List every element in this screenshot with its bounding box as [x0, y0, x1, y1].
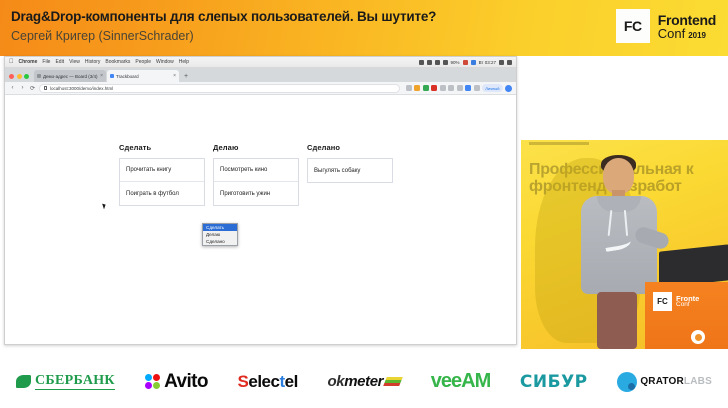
- kanban-card[interactable]: Приготовить ужин: [214, 182, 298, 205]
- extension-icon[interactable]: [474, 85, 480, 91]
- extension-icon[interactable]: [440, 85, 446, 91]
- kanban-card[interactable]: Поиграть в футбол: [120, 182, 204, 205]
- apple-icon[interactable]: : [9, 59, 14, 65]
- dropbox-icon[interactable]: [419, 60, 424, 65]
- column-title: Сделано: [307, 143, 393, 152]
- page-content: Сделать Прочитать книгу Поиграть в футбо…: [5, 95, 516, 344]
- kanban-column-todo: Сделать Прочитать книгу Поиграть в футбо…: [119, 143, 205, 206]
- sponsor-bar: СБЕРБАНК Avito Selectel okmeter veeAM СИ…: [0, 355, 728, 408]
- close-window-button[interactable]: [9, 74, 14, 79]
- tab-strip: Демо-адрес — Board (3/4) × Trackboard × …: [5, 68, 516, 82]
- mouse-cursor-icon: [102, 203, 107, 210]
- extension-icon[interactable]: [406, 85, 412, 91]
- input-source-icon[interactable]: [471, 60, 476, 65]
- kanban-board: Сделать Прочитать книгу Поиграть в футбо…: [119, 143, 393, 206]
- user-icon[interactable]: [507, 60, 512, 65]
- dropdown-option-todo[interactable]: Сделать: [203, 224, 237, 231]
- sponsor-name-suffix: LABS: [684, 376, 712, 387]
- menu-item-view[interactable]: View: [69, 59, 80, 65]
- podium-line-2: Conf: [676, 302, 699, 309]
- tab-close-icon[interactable]: ×: [100, 73, 103, 79]
- tab-active[interactable]: Trackboard ×: [107, 70, 179, 82]
- kanban-card[interactable]: Прочитать книгу: [120, 159, 204, 182]
- address-bar-url: localhost:3000/demo/index.html: [50, 86, 113, 91]
- conf-logo-year: 2019: [688, 32, 706, 40]
- extension-icon[interactable]: [414, 85, 420, 91]
- menu-item-bookmarks[interactable]: Bookmarks: [105, 59, 130, 65]
- sponsor-logo-selectel: Selectel: [238, 372, 298, 392]
- sponsor-logo-veeam: veeAM: [431, 370, 490, 393]
- sponsor-name-part: ok: [328, 373, 345, 390]
- slide-header: Drag&Drop-компоненты для слепых пользова…: [0, 0, 728, 56]
- okmeter-flag-icon: [383, 377, 403, 386]
- maximize-window-button[interactable]: [24, 74, 29, 79]
- conf-logo-line1: Frontend: [658, 13, 716, 27]
- profile-chip[interactable]: Личный: [482, 84, 502, 92]
- sponsor-logo-sibur: СИБУР: [520, 372, 588, 392]
- lock-icon: [44, 86, 47, 90]
- podium-emblem-icon: [691, 330, 705, 344]
- minimize-window-button[interactable]: [17, 74, 22, 79]
- extension-icon[interactable]: [457, 85, 463, 91]
- kanban-card[interactable]: Посмотреть кино: [214, 159, 298, 182]
- column-title: Сделать: [119, 143, 205, 152]
- lock-status-icon[interactable]: [427, 60, 432, 65]
- fc-mark: FC: [616, 9, 650, 43]
- extension-icon[interactable]: [465, 85, 471, 91]
- menu-item-window[interactable]: Window: [156, 59, 174, 65]
- window-controls[interactable]: [8, 74, 33, 82]
- speaker-video-panel: Профессиональная к фронтенд-разработ FC …: [521, 140, 728, 349]
- video-overlay-bar: [529, 142, 589, 145]
- tab-inactive[interactable]: Демо-адрес — Board (3/4) ×: [34, 70, 106, 82]
- qrator-circle-icon: [617, 372, 637, 392]
- extension-icon[interactable]: [431, 85, 437, 91]
- sponsor-name-part: meter: [344, 373, 383, 390]
- speaker-head: [603, 158, 634, 194]
- browser-toolbar: ‹ › ⟳ localhost:3000/demo/index.html Лич…: [5, 82, 516, 95]
- podium-logo: FC Fronte Conf: [653, 292, 699, 311]
- tab-title: Демо-адрес — Board (3/4): [43, 74, 98, 79]
- slide-frame: Drag&Drop-компоненты для слепых пользова…: [0, 0, 728, 408]
- conference-logo: FC Frontend Conf 2019: [616, 9, 716, 43]
- favicon-icon: [110, 74, 114, 78]
- clock: Вт 03:27: [479, 60, 496, 65]
- dropdown-option-doing[interactable]: Делаю: [203, 231, 237, 238]
- sponsor-logo-avito: Avito: [145, 371, 208, 393]
- sponsor-name: Avito: [164, 371, 208, 393]
- battery-percent: 90%: [451, 60, 460, 65]
- reload-icon[interactable]: ⟳: [29, 85, 36, 92]
- battery-icon[interactable]: [463, 60, 468, 65]
- address-bar[interactable]: localhost:3000/demo/index.html: [39, 84, 400, 93]
- extension-icon[interactable]: [448, 85, 454, 91]
- sponsor-name-part: S: [238, 372, 249, 392]
- tab-title: Trackboard: [116, 74, 139, 79]
- menu-item-edit[interactable]: Edit: [55, 59, 64, 65]
- podium: FC Fronte Conf: [645, 282, 728, 349]
- menu-item-help[interactable]: Help: [179, 59, 189, 65]
- column-title: Делаю: [213, 143, 299, 152]
- extension-icon[interactable]: [423, 85, 429, 91]
- sponsor-logo-qrator: QRATORLABS: [617, 372, 712, 392]
- sponsor-name: veeAM: [431, 370, 490, 393]
- sponsor-name-part: elec: [248, 372, 279, 392]
- back-icon[interactable]: ‹: [9, 85, 16, 91]
- sponsor-name: QRATOR: [640, 376, 684, 387]
- kanban-column-done: Сделано Выгулять собаку: [307, 143, 393, 206]
- tab-close-icon[interactable]: ×: [173, 73, 176, 79]
- dropdown-option-done[interactable]: Сделано: [203, 238, 237, 245]
- browser-window:  Chrome File Edit View History Bookmark…: [4, 56, 517, 345]
- conf-logo-line2: Conf: [658, 27, 685, 40]
- menu-item-people[interactable]: People: [135, 59, 151, 65]
- talk-title: Drag&Drop-компоненты для слепых пользова…: [11, 9, 436, 24]
- speaker-legs: [597, 292, 637, 349]
- sponsor-name: СИБУР: [520, 372, 588, 392]
- favicon-icon: [37, 74, 41, 78]
- cloud-icon[interactable]: [435, 60, 440, 65]
- wifi-icon[interactable]: [443, 60, 448, 65]
- new-tab-button[interactable]: +: [180, 73, 192, 82]
- sponsor-name: СБЕРБАНК: [35, 373, 115, 390]
- sponsor-logo-sberbank: СБЕРБАНК: [16, 373, 115, 390]
- podium-fc-mark: FC: [653, 292, 672, 311]
- avito-dots-icon: [145, 374, 161, 390]
- menu-item-history[interactable]: History: [85, 59, 101, 65]
- avatar[interactable]: [505, 85, 512, 92]
- kanban-column-doing: Делаю Посмотреть кино Приготовить ужин: [213, 143, 299, 206]
- kanban-card[interactable]: Выгулять собаку: [308, 159, 392, 182]
- talk-speaker: Сергей Кригер (SinnerSchrader): [11, 29, 194, 43]
- forward-icon[interactable]: ›: [19, 85, 26, 91]
- menu-item-file[interactable]: File: [42, 59, 50, 65]
- sponsor-logo-okmeter: okmeter: [328, 373, 402, 390]
- sponsor-name-part: el: [285, 372, 298, 392]
- spotlight-icon[interactable]: [499, 60, 504, 65]
- sberbank-leaf-icon: [16, 375, 31, 388]
- move-card-dropdown[interactable]: Сделать Делаю Сделано: [202, 223, 238, 246]
- mac-menu-bar:  Chrome File Edit View History Bookmark…: [5, 57, 516, 68]
- menu-item-chrome[interactable]: Chrome: [19, 59, 38, 65]
